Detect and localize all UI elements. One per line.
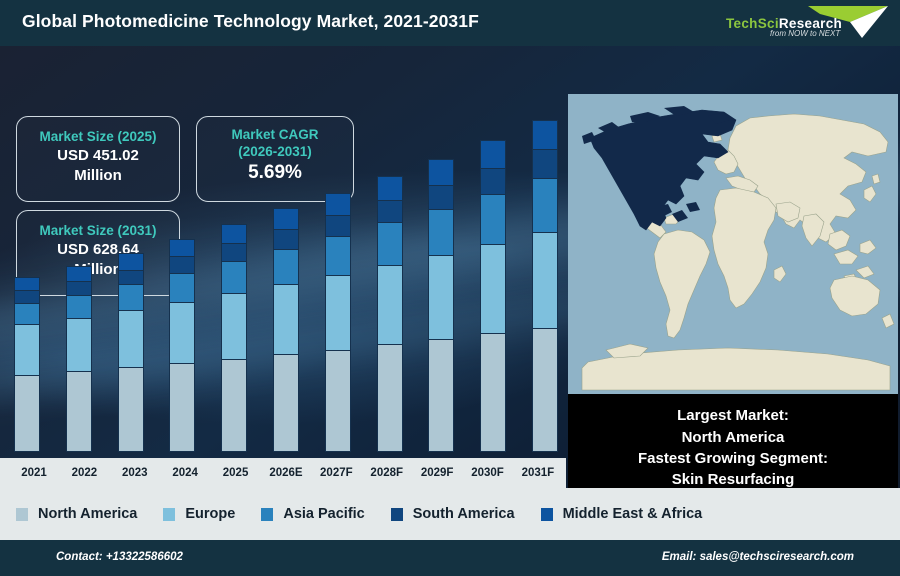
- bar-segment: [273, 229, 299, 248]
- bar-segment: [428, 255, 454, 339]
- bar-segment: [14, 277, 40, 291]
- logo-tagline: from NOW to NEXT: [770, 29, 840, 38]
- bar-segment: [221, 293, 247, 359]
- x-axis-tick-label: 2022: [64, 467, 104, 479]
- bar-segment: [325, 275, 351, 350]
- x-axis-tick-label: 2026E: [266, 467, 306, 479]
- x-axis: 202120222023202420252026E2027F2028F2029F…: [0, 458, 566, 488]
- bar-column: [221, 86, 247, 452]
- footer-contact: Contact: +13322586602: [56, 551, 183, 563]
- bar-segment: [118, 284, 144, 310]
- bar-segment: [273, 208, 299, 229]
- bar-column: [273, 86, 299, 452]
- legend-swatch-icon: [391, 508, 403, 521]
- bar-segment: [428, 185, 454, 209]
- bar-segment: [66, 281, 92, 295]
- footer-email: Email: sales@techsciresearch.com: [662, 551, 854, 563]
- bar-segment: [532, 232, 558, 327]
- legend-label: North America: [38, 506, 137, 522]
- bar-segment: [66, 371, 92, 452]
- bar-segment: [273, 284, 299, 354]
- bar-segment: [325, 215, 351, 236]
- bar-segment: [532, 120, 558, 150]
- stacked-bar-chart: 202120222023202420252026E2027F2028F2029F…: [0, 46, 566, 488]
- bar-column: [325, 86, 351, 452]
- techsci-research-logo: TechSciResearch from NOW to NEXT: [712, 2, 892, 44]
- callout-line-3: Fastest Growing Segment:: [638, 448, 828, 469]
- bar-segment: [377, 176, 403, 200]
- callout-line-1: Largest Market:: [677, 405, 789, 426]
- legend-item[interactable]: North America: [16, 506, 137, 522]
- legend-swatch-icon: [16, 508, 28, 521]
- x-axis-tick-label: 2023: [115, 467, 155, 479]
- footer-bar: Contact: +13322586602 Email: sales@techs…: [0, 540, 900, 576]
- bar-segment: [221, 243, 247, 261]
- bar-segment: [66, 295, 92, 319]
- bar-segment: [377, 344, 403, 452]
- bar-segment: [273, 354, 299, 452]
- x-axis-tick-label: 2027F: [316, 467, 356, 479]
- bar-segment: [14, 375, 40, 452]
- bar-segment: [14, 290, 40, 303]
- chart-panel: Market Size (2025) USD 451.02 Million Ma…: [0, 46, 900, 488]
- bar-column: [14, 86, 40, 452]
- legend-swatch-icon: [261, 508, 273, 521]
- bar-segment: [428, 159, 454, 185]
- bar-segment: [377, 200, 403, 222]
- bar-segment: [480, 140, 506, 168]
- bar-segment: [377, 222, 403, 264]
- bar-segment: [377, 265, 403, 344]
- bar-segment: [428, 209, 454, 255]
- bar-segment: [169, 273, 195, 302]
- x-axis-tick-label: 2030F: [468, 467, 508, 479]
- bar-segment: [480, 333, 506, 452]
- legend-item[interactable]: Europe: [163, 506, 235, 522]
- x-axis-tick-label: 2024: [165, 467, 205, 479]
- x-axis-tick-label: 2021: [14, 467, 54, 479]
- bar-segment: [221, 224, 247, 243]
- legend-item[interactable]: Middle East & Africa: [541, 506, 703, 522]
- bar-segment: [532, 178, 558, 233]
- x-axis-ticks: 202120222023202420252026E2027F2028F2029F…: [14, 458, 558, 488]
- bar-segment: [169, 239, 195, 257]
- bar-segment: [14, 324, 40, 374]
- bar-segment: [221, 261, 247, 293]
- bar-segment: [480, 244, 506, 333]
- bar-column: [428, 86, 454, 452]
- bar-column: [480, 86, 506, 452]
- bar-segment: [325, 193, 351, 215]
- bar-segment: [480, 168, 506, 194]
- bar-segment: [66, 266, 92, 281]
- bar-segment: [66, 318, 92, 371]
- callout-line-4: Skin Resurfacing: [672, 469, 795, 488]
- bar-segment: [169, 302, 195, 363]
- x-axis-tick-label: 2031F: [518, 467, 558, 479]
- header-bar: Global Photomedicine Technology Market, …: [0, 0, 900, 46]
- bar-segment: [532, 149, 558, 177]
- bar-segment: [428, 339, 454, 452]
- bar-segment: [273, 249, 299, 285]
- bar-segment: [480, 194, 506, 244]
- bar-column: [377, 86, 403, 452]
- bar-segment: [532, 328, 558, 452]
- world-map-svg: [568, 94, 898, 394]
- legend-label: South America: [413, 506, 515, 522]
- bar-segment: [118, 253, 144, 269]
- legend-item[interactable]: South America: [391, 506, 515, 522]
- x-axis-tick-label: 2028F: [367, 467, 407, 479]
- legend-swatch-icon: [163, 508, 175, 521]
- infographic-page: Global Photomedicine Technology Market, …: [0, 0, 900, 576]
- legend-label: Europe: [185, 506, 235, 522]
- world-map: [568, 94, 898, 394]
- bar-segment: [118, 270, 144, 285]
- bar-segment: [118, 367, 144, 452]
- bar-column: [169, 86, 195, 452]
- bar-segment: [169, 363, 195, 452]
- bar-segment: [118, 310, 144, 367]
- x-axis-tick-label: 2025: [216, 467, 256, 479]
- bar-segment: [325, 236, 351, 275]
- bar-column: [118, 86, 144, 452]
- page-title: Global Photomedicine Technology Market, …: [22, 11, 479, 32]
- callout-box: Largest Market: North America Fastest Gr…: [568, 394, 898, 488]
- bar-segment: [325, 350, 351, 452]
- bar-group: [14, 86, 558, 452]
- chart-legend: North AmericaEuropeAsia PacificSouth Ame…: [0, 488, 900, 540]
- legend-label: Asia Pacific: [283, 506, 364, 522]
- bar-segment: [221, 359, 247, 452]
- legend-swatch-icon: [541, 508, 553, 521]
- bar-segment: [169, 256, 195, 272]
- x-axis-tick-label: 2029F: [417, 467, 457, 479]
- bar-segment: [14, 303, 40, 324]
- bar-column: [532, 86, 558, 452]
- legend-item[interactable]: Asia Pacific: [261, 506, 364, 522]
- legend-label: Middle East & Africa: [563, 506, 703, 522]
- callout-line-2: North America: [682, 427, 785, 448]
- bar-column: [66, 86, 92, 452]
